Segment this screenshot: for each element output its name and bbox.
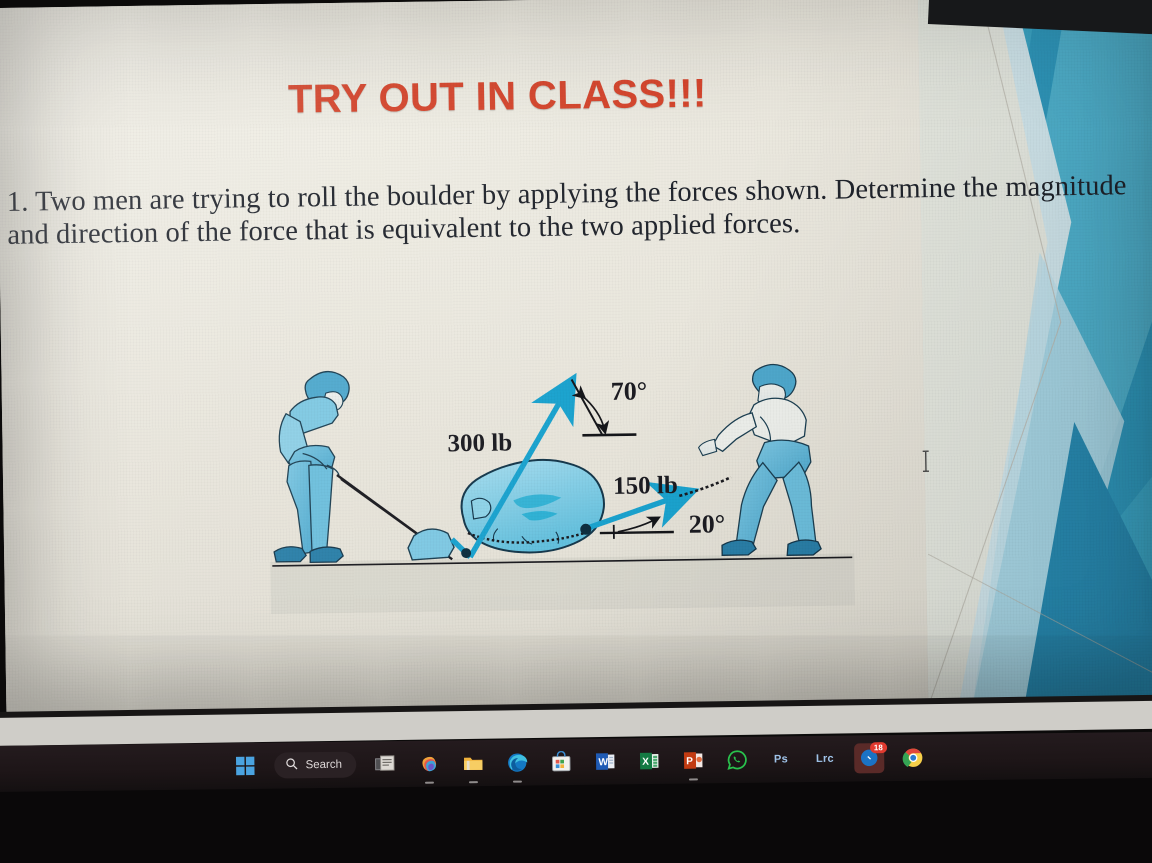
force-diagram-svg [263,345,857,616]
word-button[interactable]: W [590,746,620,776]
whatsapp-button[interactable] [722,745,752,775]
active-indicator [469,781,478,783]
folder-icon [462,752,484,774]
task-view-icon [374,753,396,775]
photoshop-icon: Ps [774,753,788,765]
monitor-screen: TRY OUT IN CLASS!!! 1. Two men are tryin… [0,0,1152,720]
active-indicator [425,782,434,784]
edge-icon [506,751,528,773]
windows-icon [234,755,256,777]
excel-button[interactable]: X [634,746,664,776]
excel-icon: X [638,750,660,772]
angle-label-20: 20° [689,509,726,540]
notification-badge: 18 [870,742,887,753]
messenger-button[interactable]: 18 [854,743,884,773]
powerpoint-button[interactable]: P [678,745,708,775]
edge-button[interactable] [502,747,532,777]
svg-text:W: W [598,757,608,768]
active-indicator [689,778,698,780]
search-icon [285,757,298,773]
word-icon: W [594,750,616,772]
store-icon [550,751,572,773]
force-label-150: 150 lb [613,472,678,501]
right-rope [679,477,731,496]
chrome-icon [902,747,924,769]
text-cursor-ibeam [921,450,931,472]
photoshop-button[interactable]: Ps [766,744,796,774]
angle-label-70: 70° [611,376,648,407]
svg-text:P: P [686,756,693,767]
search-box[interactable]: Search [274,752,356,779]
copilot-icon [418,753,440,775]
copilot-button[interactable] [414,749,444,779]
left-rope [337,473,454,561]
powerpoint-icon: P [682,749,704,771]
photo-of-monitor: TRY OUT IN CLASS!!! 1. Two men are tryin… [0,0,1152,863]
whatsapp-icon [726,749,748,771]
start-button[interactable] [230,751,260,781]
file-explorer-button[interactable] [458,748,488,778]
store-button[interactable] [546,747,576,777]
force-diagram-figure: 300 lb 70° 150 lb 20° [263,345,857,616]
left-man [271,371,351,563]
active-indicator [513,781,522,783]
lightroom-button[interactable]: Lrc [810,744,840,774]
search-label: Search [305,759,342,771]
svg-text:X: X [642,757,649,768]
task-view-button[interactable] [370,749,400,779]
force-label-300: 300 lb [447,429,512,458]
lightroom-icon: Lrc [816,753,834,765]
chrome-button[interactable] [898,743,928,773]
